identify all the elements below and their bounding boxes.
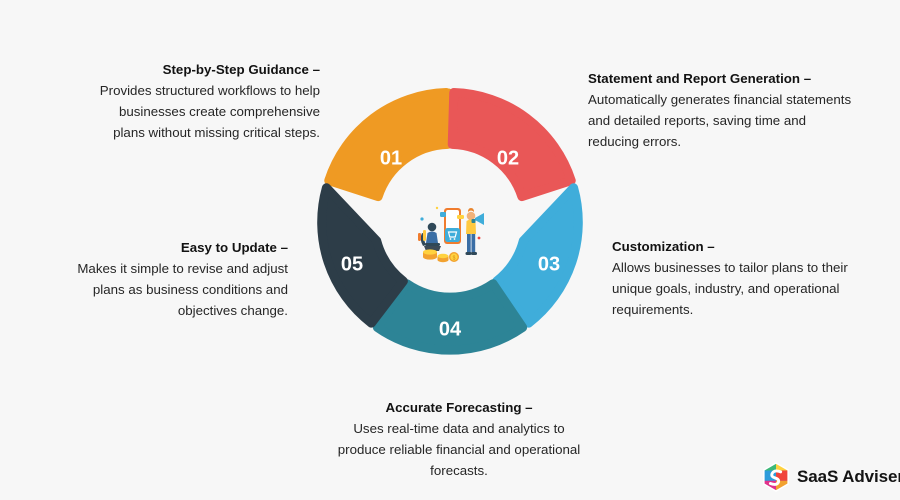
- feature-body-01: Provides structured workflows to help bu…: [96, 81, 320, 144]
- donut-segment-group-02[interactable]: [452, 93, 571, 197]
- svg-text:$: $: [453, 256, 456, 262]
- feature-title-02: Statement and Report Generation –: [588, 69, 856, 90]
- feature-body-02: Automatically generates financial statem…: [588, 90, 856, 153]
- feature-title-01: Step-by-Step Guidance –: [96, 60, 320, 81]
- saas-adviser-hexagon-s-icon: [762, 462, 790, 492]
- donut-segment-group-01[interactable]: [329, 93, 448, 197]
- feature-title-05: Easy to Update –: [46, 238, 288, 259]
- donut-label-01: 01: [380, 147, 402, 169]
- feature-title-03: Customization –: [612, 237, 854, 258]
- feature-block-04: Accurate Forecasting – Uses real-time da…: [328, 398, 590, 482]
- donut-label-04: 04: [439, 318, 462, 340]
- ecommerce-team-illustration: $: [413, 200, 487, 272]
- feature-title-04: Accurate Forecasting –: [328, 398, 590, 419]
- infographic-canvas: 01 02 03 04 05: [0, 0, 900, 500]
- feature-body-05: Makes it simple to revise and adjust pla…: [46, 259, 288, 322]
- saas-adviser-logo[interactable]: SaaS Adviser: [762, 462, 900, 492]
- feature-body-04: Uses real-time data and analytics to pro…: [328, 419, 590, 482]
- donut-label-03: 03: [538, 253, 560, 275]
- donut-label-02: 02: [497, 147, 519, 169]
- feature-block-03: Customization – Allows businesses to tai…: [612, 237, 854, 321]
- feature-block-01: Step-by-Step Guidance – Provides structu…: [96, 60, 320, 144]
- donut-label-05: 05: [341, 253, 363, 275]
- feature-block-05: Easy to Update – Makes it simple to revi…: [46, 238, 288, 322]
- feature-block-02: Statement and Report Generation – Automa…: [588, 69, 856, 153]
- logo-text: SaaS Adviser: [797, 467, 900, 487]
- feature-body-03: Allows businesses to tailor plans to the…: [612, 258, 854, 321]
